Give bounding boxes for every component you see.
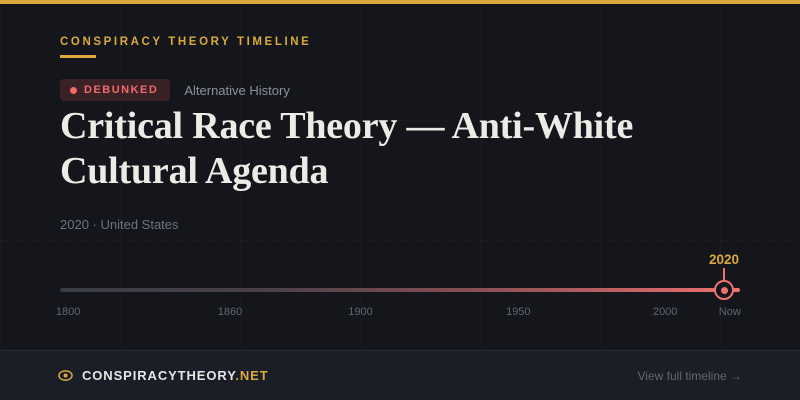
view-full-timeline-link[interactable]: View full timeline →: [638, 369, 742, 383]
brand-logo[interactable]: CONSPIRACYTHEORY.NET: [58, 368, 269, 383]
timeline-tick-now: Now: [719, 306, 741, 318]
timeline-widget[interactable]: 2020 18001860190019502000Now: [60, 260, 740, 330]
timeline-marker[interactable]: [714, 280, 734, 300]
brand-name-text: CONSPIRACYTHEORY: [82, 368, 235, 383]
timeline-marker-core: [721, 287, 728, 294]
category-label: Alternative History: [184, 83, 289, 98]
kicker-underline: [60, 55, 96, 58]
footer-bar: CONSPIRACYTHEORY.NET View full timeline …: [0, 350, 800, 400]
theory-card: CONSPIRACY THEORY TIMELINE DEBUNKED Alte…: [0, 0, 800, 400]
article-meta: 2020 · United States: [60, 217, 179, 232]
timeline-marker-year: 2020: [687, 252, 761, 267]
timeline-tick-1860: 1860: [218, 306, 242, 318]
timeline-tick-1900: 1900: [348, 306, 372, 318]
timeline-track[interactable]: [60, 288, 740, 292]
timeline-tick-1800: 1800: [56, 306, 80, 318]
status-badge[interactable]: DEBUNKED: [60, 79, 170, 101]
top-accent-bar: [0, 0, 800, 4]
kicker-label: CONSPIRACY THEORY TIMELINE: [60, 36, 311, 48]
status-row: DEBUNKED Alternative History: [60, 79, 290, 101]
kicker-block: CONSPIRACY THEORY TIMELINE: [60, 36, 311, 58]
timeline-tick-2000: 2000: [653, 306, 677, 318]
brand-name: CONSPIRACYTHEORY.NET: [82, 368, 269, 383]
status-badge-label: DEBUNKED: [84, 84, 158, 96]
eye-icon: [58, 368, 73, 383]
timeline-tick-1950: 1950: [506, 306, 530, 318]
status-dot-icon: [70, 87, 77, 94]
brand-tld: .NET: [235, 368, 268, 383]
page-title: Critical Race Theory — Anti-White Cultur…: [60, 104, 740, 194]
